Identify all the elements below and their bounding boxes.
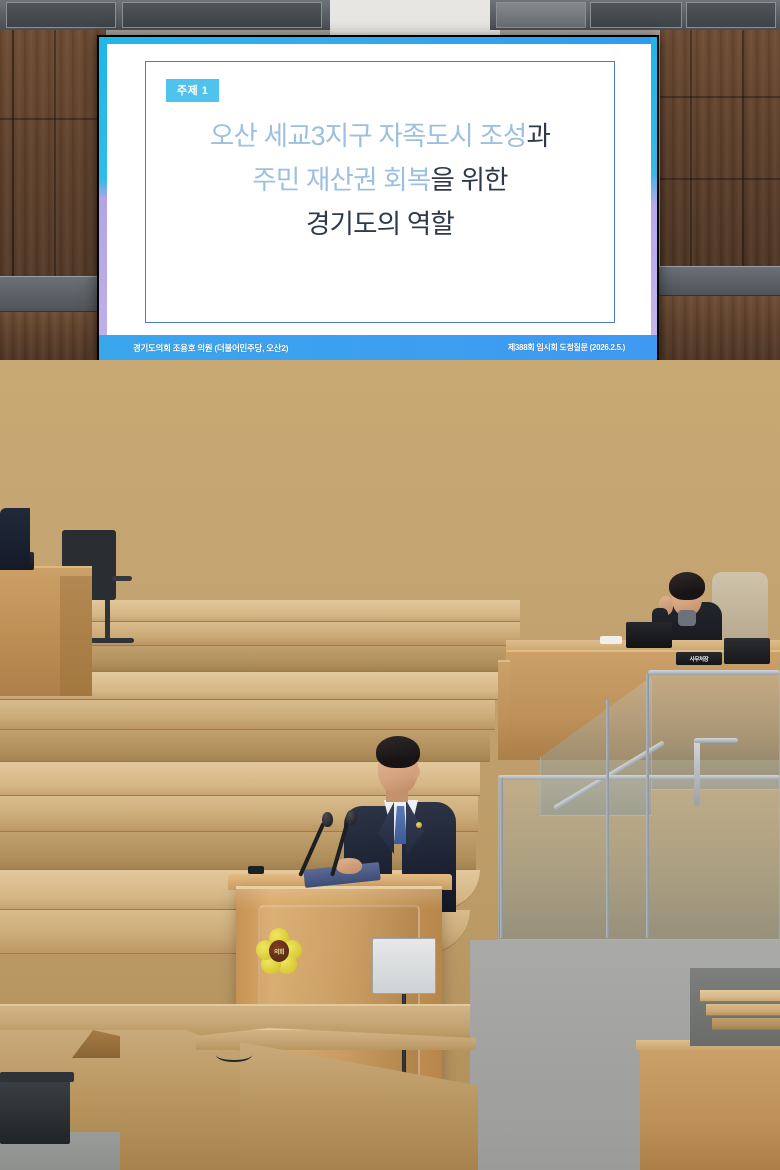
- floor-step-5: [0, 700, 495, 730]
- floor-mic-screen: [372, 938, 436, 994]
- bench-nameplate-text: 사무처장: [690, 655, 709, 663]
- podium-top-highlight: [236, 886, 442, 910]
- stair-handrail-top: [648, 670, 780, 675]
- ceiling-glass-pane-4: [590, 2, 682, 28]
- ceiling-glass-pane-1: [6, 2, 116, 28]
- podium-emblem: 의회: [256, 928, 302, 974]
- seated-member-neck-scarf: [678, 610, 696, 626]
- topic-badge: 주제 1: [166, 79, 219, 102]
- slide-footer-session: 제388회 임시회 도정질문 (2026.2.5.): [508, 342, 625, 353]
- stair-grab-bar-top: [694, 738, 738, 743]
- wall-seam-left-h: [0, 118, 106, 120]
- office-chair-stem: [105, 600, 110, 640]
- stair-grab-bar[interactable]: [694, 740, 700, 806]
- microphone-head-left: [322, 812, 333, 827]
- partial-person-left: [0, 508, 30, 570]
- stairwell-step-2: [706, 1004, 780, 1016]
- slide: 주제 1 오산 세교3지구 자족도시 조성과 주민 재산권 회복을 위한 경기도…: [99, 37, 657, 360]
- wall-seam-left-1: [12, 30, 14, 305]
- wall-seam-right-1: [690, 30, 692, 266]
- stair-glass-railing-lower: [498, 778, 780, 940]
- ceiling-glass-pane-3: [496, 2, 586, 28]
- ceiling-white-pillar: [330, 0, 490, 30]
- microphone-head-right: [346, 810, 357, 825]
- slide-content-frame: 주제 1 오산 세교3지구 자족도시 조성과 주민 재산권 회복을 위한 경기도…: [145, 61, 615, 323]
- presentation-screen[interactable]: 주제 1 오산 세교3지구 자족도시 조성과 주민 재산권 회복을 위한 경기도…: [97, 35, 659, 362]
- slide-title-block: 오산 세교3지구 자족도시 조성과 주민 재산권 회복을 위한 경기도의 역할: [146, 114, 614, 246]
- bench-nameplate[interactable]: 사무처장: [676, 652, 722, 665]
- foreground-right-wall: [640, 1046, 780, 1170]
- office-chair-arm: [112, 576, 132, 581]
- slide-title-line-3: 경기도의 역할: [146, 202, 614, 246]
- floor-equipment-case-lid: [0, 1072, 74, 1082]
- stair-glass-railing-upper: [648, 672, 780, 790]
- slide-border-top: [99, 37, 657, 44]
- wall-seam-right-2: [742, 30, 744, 266]
- bench-paper: [600, 636, 622, 644]
- stair-rail-post-1: [500, 778, 503, 938]
- speaker-hair: [376, 736, 420, 768]
- slide-border-right: [651, 37, 657, 360]
- bench-laptop[interactable]: [724, 638, 770, 664]
- ceiling-glass-pane-2: [122, 2, 322, 28]
- ceiling-glass-pane-5: [686, 2, 776, 28]
- slide-title-line-1-highlight: 오산 세교3지구 자족도시 조성: [210, 121, 527, 151]
- screen-display-area: 주제 1 오산 세교3지구 자족도시 조성과 주민 재산권 회복을 위한 경기도…: [99, 37, 657, 360]
- bench-monitor: [626, 622, 672, 648]
- wall-seam-right-h1: [660, 96, 780, 98]
- slide-footer: 경기도의회 조용호 의원 (더불어민주당, 오산2) 제388회 임시회 도정질…: [99, 335, 657, 360]
- wall-glass-strip-left: [0, 276, 106, 312]
- slide-title-line-1-plain: 과: [527, 121, 551, 151]
- slide-title-line-2: 주민 재산권 회복을 위한: [146, 158, 614, 202]
- slide-border-left: [99, 37, 107, 360]
- stair-rail-post-2: [606, 700, 609, 938]
- stair-rail-post-3: [646, 674, 649, 938]
- speaker-ear: [412, 766, 420, 778]
- wall-seam-left-2: [54, 30, 56, 305]
- bench-side-panel: [498, 660, 510, 760]
- chamber-scene: 주제 1 오산 세교3지구 자족도시 조성과 주민 재산권 회복을 위한 경기도…: [0, 0, 780, 1170]
- left-podium-side: [60, 576, 92, 696]
- podium-control-button[interactable]: [248, 866, 264, 874]
- stairwell-step-3: [712, 1018, 780, 1030]
- stair-handrail-lower: [498, 775, 780, 780]
- seated-member-hair: [669, 572, 705, 600]
- wall-base-left: [0, 312, 106, 360]
- emblem-core: 의회: [269, 940, 289, 962]
- slide-title-line-2-plain: 을 위한: [430, 165, 507, 195]
- speaker-hand: [336, 858, 362, 874]
- slide-title-line-2-highlight: 주민 재산권 회복: [252, 165, 430, 195]
- slide-title-line-3-plain: 경기도의 역할: [306, 209, 454, 239]
- wall-panel-right: [660, 30, 780, 266]
- emblem-core-text: 의회: [274, 947, 284, 956]
- office-chair-base: [86, 638, 134, 643]
- floor-equipment-case: [0, 1078, 70, 1144]
- slide-footer-speaker: 경기도의회 조용호 의원 (더불어민주당, 오산2): [133, 342, 288, 354]
- slide-title-line-1: 오산 세교3지구 자족도시 조성과: [146, 114, 614, 158]
- speaker-lapel-pin-icon: [416, 822, 422, 828]
- floor-cable: [216, 1048, 252, 1062]
- stairwell-step-1: [700, 990, 780, 1002]
- wall-seam-right-h2: [660, 178, 780, 180]
